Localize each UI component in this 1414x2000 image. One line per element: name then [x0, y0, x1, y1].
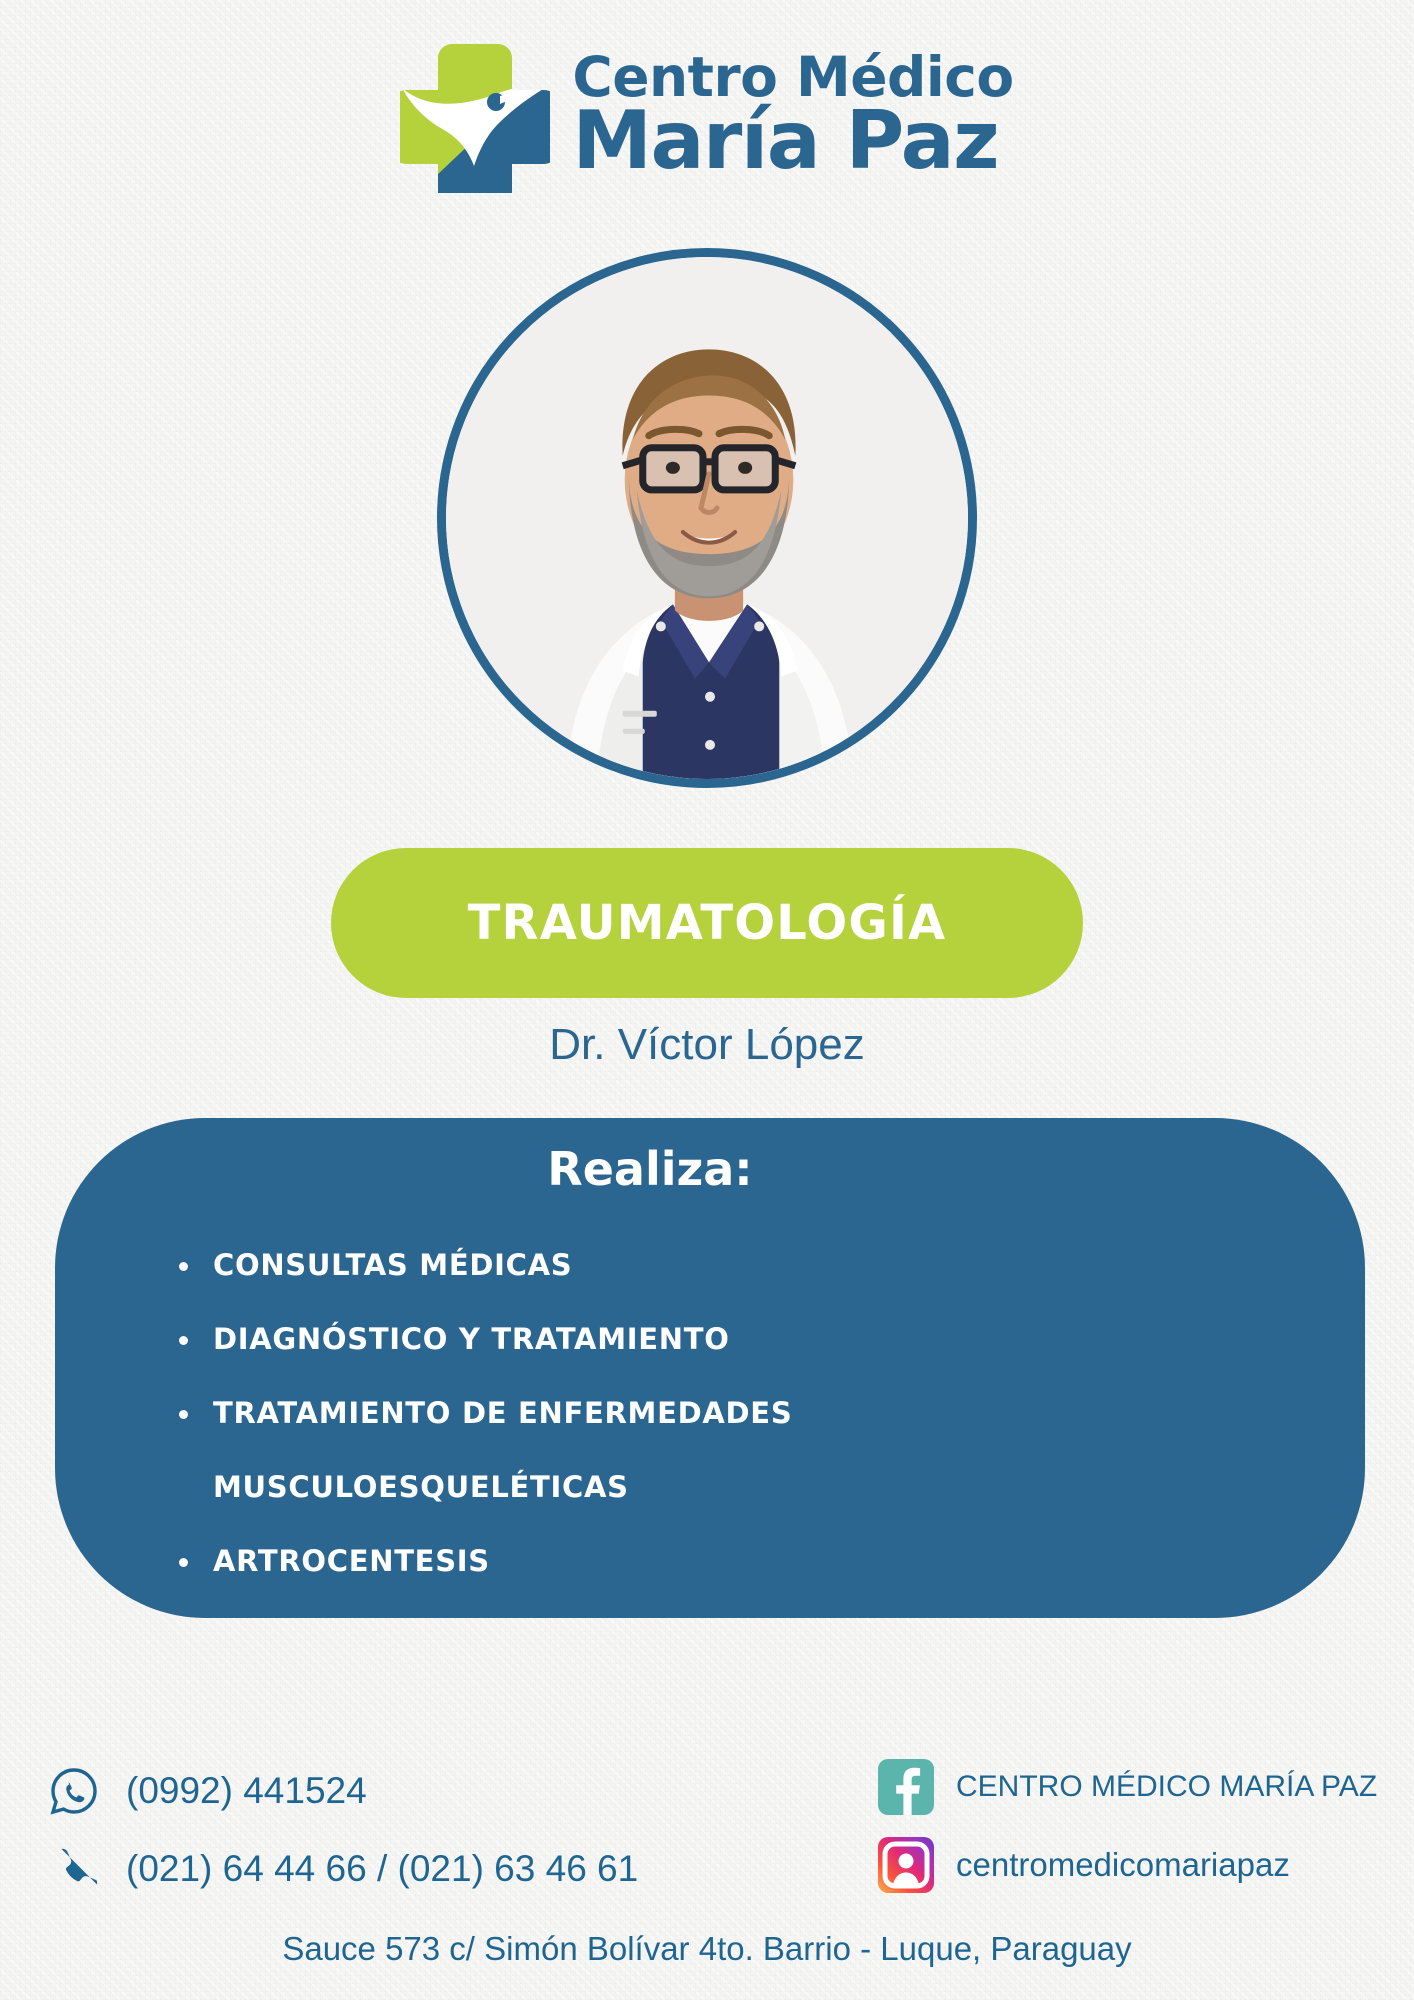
medical-cross-dove-logo — [400, 38, 550, 193]
portrait-ring — [437, 248, 977, 788]
brand-wordmark: Centro Médico María Paz — [572, 50, 1013, 181]
services-title: Realiza: — [55, 1142, 1365, 1196]
instagram-icon — [878, 1837, 934, 1893]
brand-header: Centro Médico María Paz — [0, 38, 1414, 193]
brand-name-line2: María Paz — [572, 101, 1013, 181]
service-item: DIAGNÓSTICO Y TRATAMIENTO — [165, 1302, 1285, 1376]
contact-row-phone[interactable]: (021) 64 44 66 / (021) 63 46 61 — [48, 1830, 768, 1908]
doctor-name: Dr. Víctor López — [0, 1020, 1414, 1070]
facebook-handle: CENTRO MÉDICO MARÍA PAZ — [956, 1770, 1377, 1804]
doctor-portrait — [437, 248, 977, 788]
phone-icon — [48, 1843, 100, 1895]
service-item: ARTROCENTESIS — [165, 1524, 1285, 1598]
services-list: CONSULTAS MÉDICAS DIAGNÓSTICO Y TRATAMIE… — [165, 1228, 1285, 1598]
address-line: Sauce 573 c/ Simón Bolívar 4to. Barrio -… — [0, 1930, 1414, 1968]
contact-row-whatsapp[interactable]: (0992) 441524 — [48, 1752, 768, 1830]
social-block: CENTRO MÉDICO MARÍA PAZ centromedicomari… — [878, 1748, 1398, 1904]
contact-block: (0992) 441524 (021) 64 44 66 / (021) 63 … — [48, 1752, 768, 1908]
service-item: CONSULTAS MÉDICAS — [165, 1228, 1285, 1302]
instagram-handle: centromedicomariapaz — [956, 1846, 1290, 1884]
service-item: TRATAMIENTO DE ENFERMEDADES — [165, 1376, 1285, 1450]
services-panel: Realiza: CONSULTAS MÉDICAS DIAGNÓSTICO Y… — [55, 1118, 1365, 1618]
portrait-image — [446, 257, 968, 779]
phone-number: (021) 64 44 66 / (021) 63 46 61 — [126, 1848, 638, 1890]
whatsapp-number: (0992) 441524 — [126, 1770, 367, 1812]
specialty-label: TRAUMATOLOGÍA — [468, 895, 947, 951]
facebook-icon — [878, 1759, 934, 1815]
specialty-badge: TRAUMATOLOGÍA — [331, 848, 1083, 998]
social-row-instagram[interactable]: centromedicomariapaz — [878, 1826, 1398, 1904]
social-row-facebook[interactable]: CENTRO MÉDICO MARÍA PAZ — [878, 1748, 1398, 1826]
whatsapp-icon — [48, 1765, 100, 1817]
service-item: MUSCULOESQUELÉTICAS — [165, 1450, 1285, 1524]
flyer-page: Centro Médico María Paz — [0, 0, 1414, 2000]
